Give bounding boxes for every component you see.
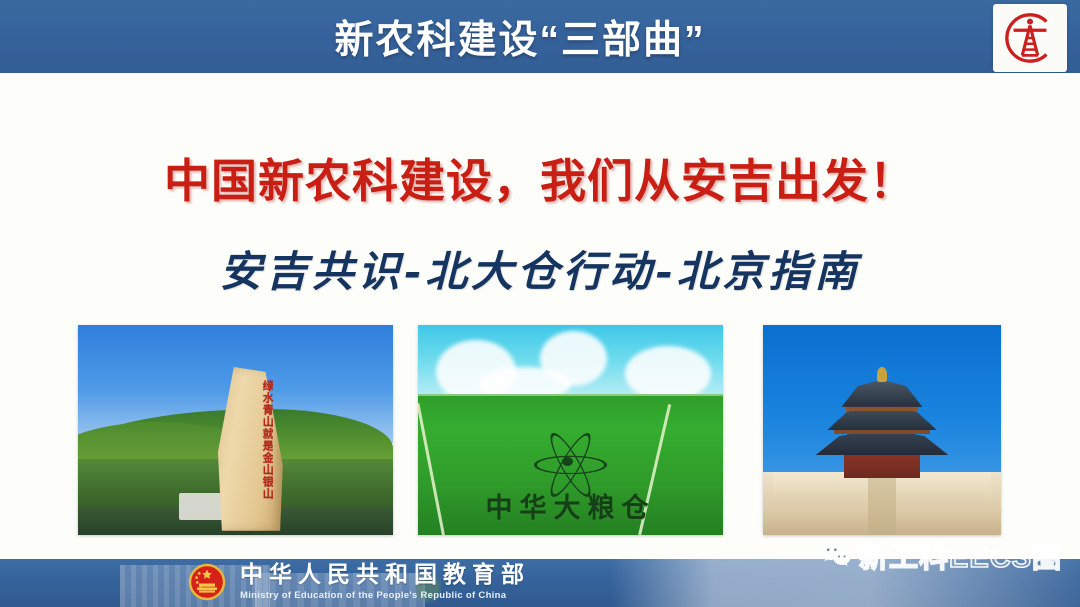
ministry-text-block: 中华人民共和国教育部 Ministry of Education of the … xyxy=(240,563,530,601)
wechat-icon xyxy=(820,541,852,569)
atom-symbol-icon xyxy=(534,443,601,481)
staircase xyxy=(868,472,897,535)
watermark-label: 新工科EECS圈 xyxy=(859,534,1062,576)
wechat-account-watermark: 新工科EECS圈 xyxy=(820,534,1062,576)
crop-art-text: 中华大粮仓 xyxy=(418,486,723,525)
presentation-slide: 新农科建设“三部曲” 中国新农科建设，我们从安吉出发！ 安吉共识-北大仓行动-北… xyxy=(0,0,1080,607)
photo-temple-of-heaven xyxy=(763,325,1001,535)
national-emblem-icon xyxy=(186,561,228,603)
field-horizon-line xyxy=(418,394,723,396)
slide-header: 新农科建设“三部曲” xyxy=(0,0,1080,73)
roof-finial xyxy=(877,367,887,382)
photo-anji-stone-monument: 绿水青山就是金山银山 xyxy=(78,325,393,535)
headline-primary: 中国新农科建设，我们从安吉出发！ xyxy=(0,145,1080,211)
cau-tower-emblem-icon xyxy=(993,4,1067,72)
monument-inscription: 绿水青山就是金山银山 xyxy=(236,380,274,510)
slide-body: 中国新农科建设，我们从安吉出发！ 安吉共识-北大仓行动-北京指南 绿水青山就是金… xyxy=(0,73,1080,559)
ministry-of-education-brand: 中华人民共和国教育部 Ministry of Education of the … xyxy=(186,561,530,603)
headline-secondary: 安吉共识-北大仓行动-北京指南 xyxy=(0,238,1080,299)
ministry-name-en: Ministry of Education of the People's Re… xyxy=(240,591,530,601)
cloud xyxy=(625,346,710,401)
ministry-name-cn: 中华人民共和国教育部 xyxy=(240,563,530,586)
page-title: 新农科建设“三部曲” xyxy=(0,0,1080,73)
photo-rice-field-crop-art: 中华大粮仓 xyxy=(418,325,723,535)
